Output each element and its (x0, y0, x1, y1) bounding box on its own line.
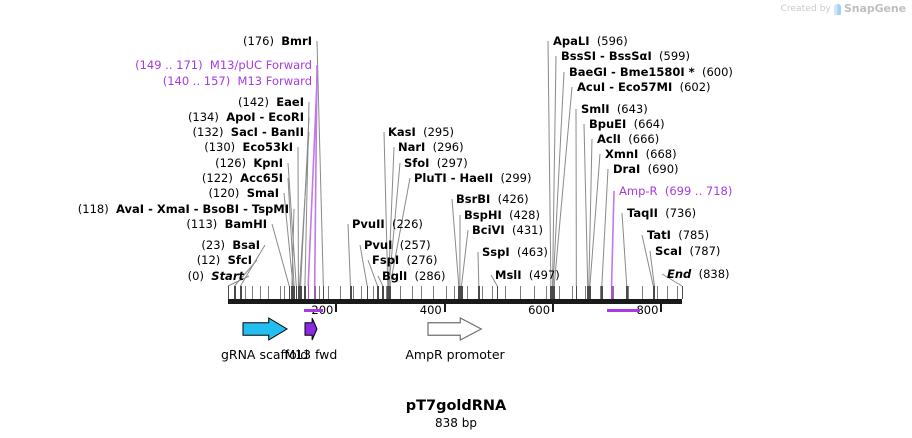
map-label-name: BsrBI (456, 192, 490, 206)
map-label-position: (600) (702, 65, 733, 79)
map-label-names: End (667, 267, 691, 281)
cut-site-tick (576, 286, 578, 299)
map-label-position: (134) (188, 110, 219, 124)
map-label-separator: - (190, 202, 203, 216)
map-label-apaLI[interactable]: ApaLI (596) (553, 35, 628, 47)
map-label-names: BsrBI (456, 192, 490, 206)
map-label-bciVI[interactable]: BciVI (431) (472, 224, 543, 236)
cut-site-tick (240, 286, 242, 299)
map-label-position: (296) (433, 140, 464, 154)
map-label-position: (12) (197, 253, 221, 267)
cut-site-tick (308, 286, 310, 299)
map-label-position: (428) (509, 208, 540, 222)
leader-line (478, 252, 479, 286)
map-label-fspI[interactable]: FspI (276) (372, 254, 437, 266)
map-label-name: BanII (271, 125, 304, 139)
map-label-names: PvuII (352, 217, 385, 231)
map-label-name: AvaI (116, 202, 144, 216)
cut-site-tick-minor (559, 286, 560, 299)
map-label-name: BspHI (464, 208, 502, 222)
map-label-name: SmaI (247, 186, 279, 200)
map-label-name: Eco53kI (242, 140, 293, 154)
map-label-position: (463) (517, 245, 548, 259)
map-label-bsaI[interactable]: (23) BsaI (201, 239, 260, 251)
cut-site-tick-minor (657, 286, 658, 299)
map-label-position: (787) (689, 244, 720, 258)
map-label-position: (118) (78, 202, 109, 216)
map-label-names: BspHI (464, 208, 502, 222)
cut-site-tick-minor (600, 286, 601, 299)
map-label-position: (785) (678, 228, 709, 242)
map-label-position: (276) (407, 253, 438, 267)
leader-line (622, 213, 627, 286)
map-label-names: SfcI (228, 253, 252, 267)
map-label-kasI[interactable]: KasI (295) (388, 126, 454, 138)
cut-site-tick-minor (260, 286, 261, 299)
map-label-position: (596) (597, 34, 628, 48)
map-label-position: (286) (415, 269, 446, 283)
map-label-aclI[interactable]: AclI (666) (597, 133, 659, 145)
map-label-baeGI[interactable]: BaeGI - Bme1580I * (600) (569, 66, 733, 78)
map-label-position: (130) (204, 140, 235, 154)
leader-line (553, 56, 556, 286)
map-label-separator: - (239, 202, 252, 216)
leader-line (553, 72, 564, 286)
map-label-names: SmaI (247, 186, 279, 200)
map-label-names: DraI (613, 162, 640, 176)
feature-range-underline (607, 309, 640, 312)
map-label-eaeI[interactable]: (142) EaeI (238, 96, 304, 108)
cut-site-tick (654, 286, 656, 299)
map-label-bmrI[interactable]: (176) BmrI (243, 35, 312, 47)
map-label-tatI[interactable]: TatI (785) (647, 229, 709, 241)
page-title: pT7goldRNA (0, 398, 912, 414)
cut-site-tick-minor (613, 286, 614, 299)
map-label-xmnI[interactable]: XmnI (668) (605, 148, 677, 160)
ruler-tick (552, 304, 554, 312)
map-label-acuI[interactable]: AcuI - Eco57MI (602) (577, 81, 711, 93)
map-label-position: (838) (699, 267, 730, 281)
map-label-name: KasI (388, 125, 416, 139)
map-label-name: TaqII (627, 206, 658, 220)
map-label-position: (299) (501, 171, 532, 185)
leader-line (612, 191, 614, 286)
map-label-name: PvuI (364, 238, 392, 252)
cut-site-tick (350, 286, 352, 299)
map-label-name: Acc65I (240, 171, 283, 185)
ruler-tick (660, 304, 662, 312)
cut-site-tick-minor (421, 286, 422, 299)
plasmid-size: 838 bp (0, 416, 912, 430)
map-label-names: FspI (372, 253, 399, 267)
map-label-bssSI[interactable]: BssSI - BssSαI (599) (561, 50, 690, 62)
map-label-avaI[interactable]: (118) AvaI - XmaI - BsoBI - TspMI (78, 203, 289, 215)
feature-arrow-grna-scaffold[interactable] (242, 316, 288, 342)
map-label-names: BssSI - BssSαI (561, 49, 652, 63)
map-label-name: EcoRI (268, 110, 304, 124)
map-label-name: TatI (647, 228, 671, 242)
map-label-sfcI[interactable]: (12) SfcI (197, 254, 252, 266)
map-label-names: TaqII (627, 206, 658, 220)
cut-site-tick-minor (386, 286, 387, 299)
map-label-names: BpuEI (589, 117, 626, 131)
cut-site-tick-minor (454, 286, 455, 299)
cut-site-tick-minor (268, 286, 269, 299)
cut-site-tick (554, 286, 556, 299)
cut-site-tick-minor (252, 286, 253, 299)
map-label-names: PluTI - HaeII (414, 171, 493, 185)
map-label-names: XmnI (605, 147, 638, 161)
map-label-names: M13/pUC Forward (210, 58, 312, 72)
cut-site-tick-minor (353, 286, 354, 299)
cut-site-tick-minor (534, 286, 535, 299)
cut-site-tick-minor (446, 286, 447, 299)
cut-site-tick-minor (505, 286, 506, 299)
map-label-separator: - (144, 202, 157, 216)
map-label-narI[interactable]: NarI (296) (398, 141, 464, 153)
cut-site-tick (234, 286, 236, 299)
map-label-position: (736) (665, 206, 696, 220)
map-label-position: (113) (186, 217, 217, 231)
map-label-names: AcuI - Eco57MI (577, 80, 672, 94)
map-label-name: XmnI (605, 147, 638, 161)
map-label-name: M13 Forward (238, 74, 312, 88)
ruler-tick-label-800: 800 (636, 303, 658, 317)
cut-site-tick-minor (482, 286, 483, 299)
map-label-name: AcuI (577, 80, 605, 94)
map-label-names: BmrI (281, 34, 312, 48)
cut-site-tick (478, 286, 480, 299)
map-label-names: ScaI (655, 244, 682, 258)
map-label-position: (140 .. 157) (163, 74, 231, 88)
cut-site-tick-minor (361, 286, 362, 299)
map-label-sspI[interactable]: SspI (463) (482, 246, 548, 258)
leader-line (317, 41, 323, 286)
cut-site-tick-minor (284, 286, 285, 299)
cut-site-tick-minor (667, 286, 668, 299)
map-label-names: ApoI - EcoRI (226, 110, 304, 124)
map-label-position: (257) (400, 238, 431, 252)
map-label-names: PvuI (364, 238, 392, 252)
map-label-names: BamHI (225, 217, 267, 231)
map-label-position: (599) (659, 49, 690, 63)
map-label-smlI[interactable]: SmlI (643) (581, 103, 648, 115)
map-label-taqII[interactable]: TaqII (736) (627, 207, 696, 219)
map-label-position: (120) (208, 186, 239, 200)
ruler-tick (444, 304, 446, 312)
cut-site-tick (377, 286, 379, 299)
map-label-separator: - (596, 49, 609, 63)
leader-line (548, 41, 551, 286)
map-label-name: SfcI (228, 253, 252, 267)
leader-line (554, 87, 572, 286)
cut-site-tick-minor (280, 286, 281, 299)
map-label-name: SfoI (404, 156, 429, 170)
map-label-name: DraI (613, 162, 640, 176)
feature-range-underline (304, 309, 324, 312)
map-label-start[interactable]: (0) Start (188, 270, 244, 282)
cut-site-tick-minor (319, 286, 320, 299)
map-label-ampR[interactable]: Amp-R (699 .. 718) (619, 185, 732, 197)
map-label-name: BglI (382, 269, 407, 283)
map-label-position: (643) (617, 102, 648, 116)
leader-line (348, 224, 350, 286)
leader-line (584, 124, 588, 286)
map-label-names: Amp-R (619, 184, 658, 198)
map-label-position: (132) (193, 125, 224, 139)
cut-site-tick-minor (492, 286, 493, 299)
cut-site-tick-minor (314, 286, 315, 299)
map-label-position: (142) (238, 95, 269, 109)
map-label-apoI[interactable]: (134) ApoI - EcoRI (188, 111, 304, 123)
cut-site-tick (601, 286, 603, 299)
map-label-position: (668) (646, 147, 677, 161)
leader-line (452, 199, 459, 286)
map-label-name: SspI (482, 245, 510, 259)
map-label-name: PluTI (414, 171, 447, 185)
map-label-m13puc[interactable]: (149 .. 171) M13/pUC Forward (135, 59, 312, 71)
map-label-m13fwd[interactable]: (140 .. 157) M13 Forward (163, 75, 312, 87)
map-label-names: TatI (647, 228, 671, 242)
map-label-name: M13/pUC Forward (210, 58, 312, 72)
map-label-pvuI[interactable]: PvuI (257) (364, 239, 431, 251)
map-label-position: (690) (648, 162, 679, 176)
cut-site-tick-minor (400, 286, 401, 299)
map-label-separator: - (607, 65, 620, 79)
map-label-name: ScaI (655, 244, 682, 258)
map-label-separator: - (256, 110, 269, 124)
map-label-plutI[interactable]: PluTI - HaeII (299) (414, 172, 531, 184)
map-label-name: SacI (231, 125, 258, 139)
map-label-name: BpuEI (589, 117, 626, 131)
map-label-name: ApoI (226, 110, 255, 124)
map-label-names: SacI - BanII (231, 125, 304, 139)
map-label-bspHI[interactable]: BspHI (428) (464, 209, 540, 221)
ruler-tick-label-600: 600 (528, 303, 550, 317)
map-label-names: SfoI (404, 156, 429, 170)
map-label-position: (664) (634, 117, 665, 131)
map-label-name: NarI (398, 140, 425, 154)
map-label-names: AvaI - XmaI - BsoBI - TspMI (116, 202, 289, 216)
map-label-name: TspMI (252, 202, 289, 216)
feature-label-ampr-promoter: AmpR promoter (405, 347, 504, 362)
map-label-name: Start (211, 269, 244, 283)
map-label-position: (497) (529, 268, 560, 282)
map-label-bpuEI[interactable]: BpuEI (664) (589, 118, 665, 130)
cut-site-tick-minor (520, 286, 521, 299)
map-label-names: BciVI (472, 223, 505, 237)
cut-site-tick-minor (642, 286, 643, 299)
map-label-sfoI[interactable]: SfoI (297) (404, 157, 468, 169)
map-label-name: HaeII (459, 171, 493, 185)
map-label-names: SmlI (581, 102, 610, 116)
map-label-names: KpnI (253, 156, 283, 170)
leader-line (300, 132, 309, 286)
map-label-position: (23) (201, 238, 225, 252)
map-label-position: (126) (215, 156, 246, 170)
cut-site-tick-minor (340, 286, 341, 299)
cut-site-tick (298, 286, 300, 299)
map-label-name: XmaI (157, 202, 190, 216)
cut-site-tick-minor (373, 286, 374, 299)
map-label-acc65I[interactable]: (122) Acc65I (202, 172, 283, 184)
cut-site-tick-minor (245, 286, 246, 299)
map-label-names: EaeI (276, 95, 304, 109)
cut-site-tick-minor (572, 286, 573, 299)
cut-site-tick (682, 286, 684, 299)
map-label-position: (226) (392, 217, 423, 231)
map-label-position: (666) (628, 132, 659, 146)
map-label-position: (602) (680, 80, 711, 94)
cut-site-tick (461, 286, 463, 299)
map-label-bamHI[interactable]: (113) BamHI (186, 218, 267, 230)
map-label-bsrBI[interactable]: BsrBI (426) (456, 193, 529, 205)
map-label-bglI[interactable]: BglI (286) (382, 270, 445, 282)
ruler-tick (335, 304, 337, 312)
map-label-names: BsaI (232, 238, 260, 252)
map-label-name: Bme1580I * (620, 65, 695, 79)
map-label-name: KpnI (253, 156, 283, 170)
cut-site-tick-minor (628, 286, 629, 299)
feature-arrow-m-fwd[interactable] (304, 316, 318, 342)
map-label-name: BmrI (281, 34, 312, 48)
cut-site-tick-minor (412, 286, 413, 299)
map-label-position: (699 .. 718) (665, 184, 733, 198)
cut-site-tick-minor (546, 286, 547, 299)
map-label-name: BamHI (225, 217, 267, 231)
cut-site-tick-minor (467, 286, 468, 299)
cut-site-tick-minor (585, 286, 586, 299)
cut-site-tick (304, 286, 306, 299)
map-label-name: SmlI (581, 102, 610, 116)
map-label-name: AclI (597, 132, 621, 146)
cut-site-tick (323, 286, 325, 299)
map-label-name: BsoBI (203, 202, 240, 216)
map-label-separator: - (258, 125, 271, 139)
map-label-position: (297) (437, 156, 468, 170)
map-label-end[interactable]: End (838) (667, 268, 730, 280)
map-label-scaI[interactable]: ScaI (787) (655, 245, 720, 257)
map-label-pvuII[interactable]: PvuII (226) (352, 218, 423, 230)
map-label-position: (426) (498, 192, 529, 206)
map-label-position: (176) (243, 34, 274, 48)
map-label-position: (122) (202, 171, 233, 185)
map-label-smaI[interactable]: (120) SmaI (208, 187, 279, 199)
cut-site-tick (382, 286, 384, 299)
map-label-draI[interactable]: DraI (690) (613, 163, 679, 175)
cut-site-tick-minor (433, 286, 434, 299)
cut-site-tick (296, 286, 298, 299)
map-label-position: (431) (512, 223, 543, 237)
map-label-name: EaeI (276, 95, 304, 109)
map-label-name: ApaLI (553, 34, 590, 48)
map-label-names: Acc65I (240, 171, 283, 185)
map-label-position: (295) (423, 125, 454, 139)
map-label-eco53kI[interactable]: (130) Eco53kI (204, 141, 293, 153)
leader-line (272, 224, 289, 286)
map-label-name: BaeGI (569, 65, 607, 79)
map-label-name: MslI (495, 268, 522, 282)
leader-line (602, 169, 608, 286)
map-label-position: (149 .. 171) (135, 58, 203, 72)
map-label-separator: - (605, 80, 618, 94)
map-label-name: Amp-R (619, 184, 658, 198)
map-label-names: ApaLI (553, 34, 590, 48)
cut-site-tick-minor (677, 286, 678, 299)
feature-label-m-fwd: M13 fwd (284, 347, 337, 362)
cut-site-tick (289, 286, 291, 299)
map-label-mslI[interactable]: MslI (497) (495, 269, 560, 281)
map-label-separator: - (447, 171, 460, 185)
map-label-name: Eco57MI (618, 80, 672, 94)
cut-site-tick (389, 286, 391, 299)
map-label-name: BssSI (561, 49, 596, 63)
map-label-name: BssSαI (609, 49, 652, 63)
map-label-names: AclI (597, 132, 621, 146)
cut-site-tick (589, 286, 591, 299)
map-label-name: BciVI (472, 223, 505, 237)
map-label-position: (0) (188, 269, 204, 283)
map-label-kpnI[interactable]: (126) KpnI (215, 157, 283, 169)
map-label-names: KasI (388, 125, 416, 139)
cut-site-tick (228, 286, 230, 299)
map-label-names: SspI (482, 245, 510, 259)
map-label-names: M13 Forward (238, 74, 312, 88)
map-label-name: End (667, 267, 691, 281)
map-label-names: Eco53kI (242, 140, 293, 154)
map-label-names: BaeGI - Bme1580I * (569, 65, 695, 79)
ruler-bar (228, 299, 682, 304)
map-label-names: MslI (495, 268, 522, 282)
snapgene-linear-map: Created by SnapGene (176) BmrI(149 .. 17… (0, 0, 912, 438)
map-label-name: BsaI (232, 238, 260, 252)
map-label-names: NarI (398, 140, 425, 154)
cut-site-tick (367, 286, 369, 299)
feature-arrow-ampr-promoter[interactable] (427, 316, 482, 342)
map-label-names: Start (211, 269, 244, 283)
cut-site-tick-minor (328, 286, 329, 299)
map-label-names: BglI (382, 269, 407, 283)
leader-line (462, 230, 468, 286)
map-label-sacI[interactable]: (132) SacI - BanII (193, 126, 304, 138)
map-label-name: FspI (372, 253, 399, 267)
cut-site-tick (497, 286, 499, 299)
map-label-name: PvuII (352, 217, 385, 231)
ruler-tick-label-400: 400 (420, 303, 442, 317)
cut-site-tick (291, 286, 293, 299)
